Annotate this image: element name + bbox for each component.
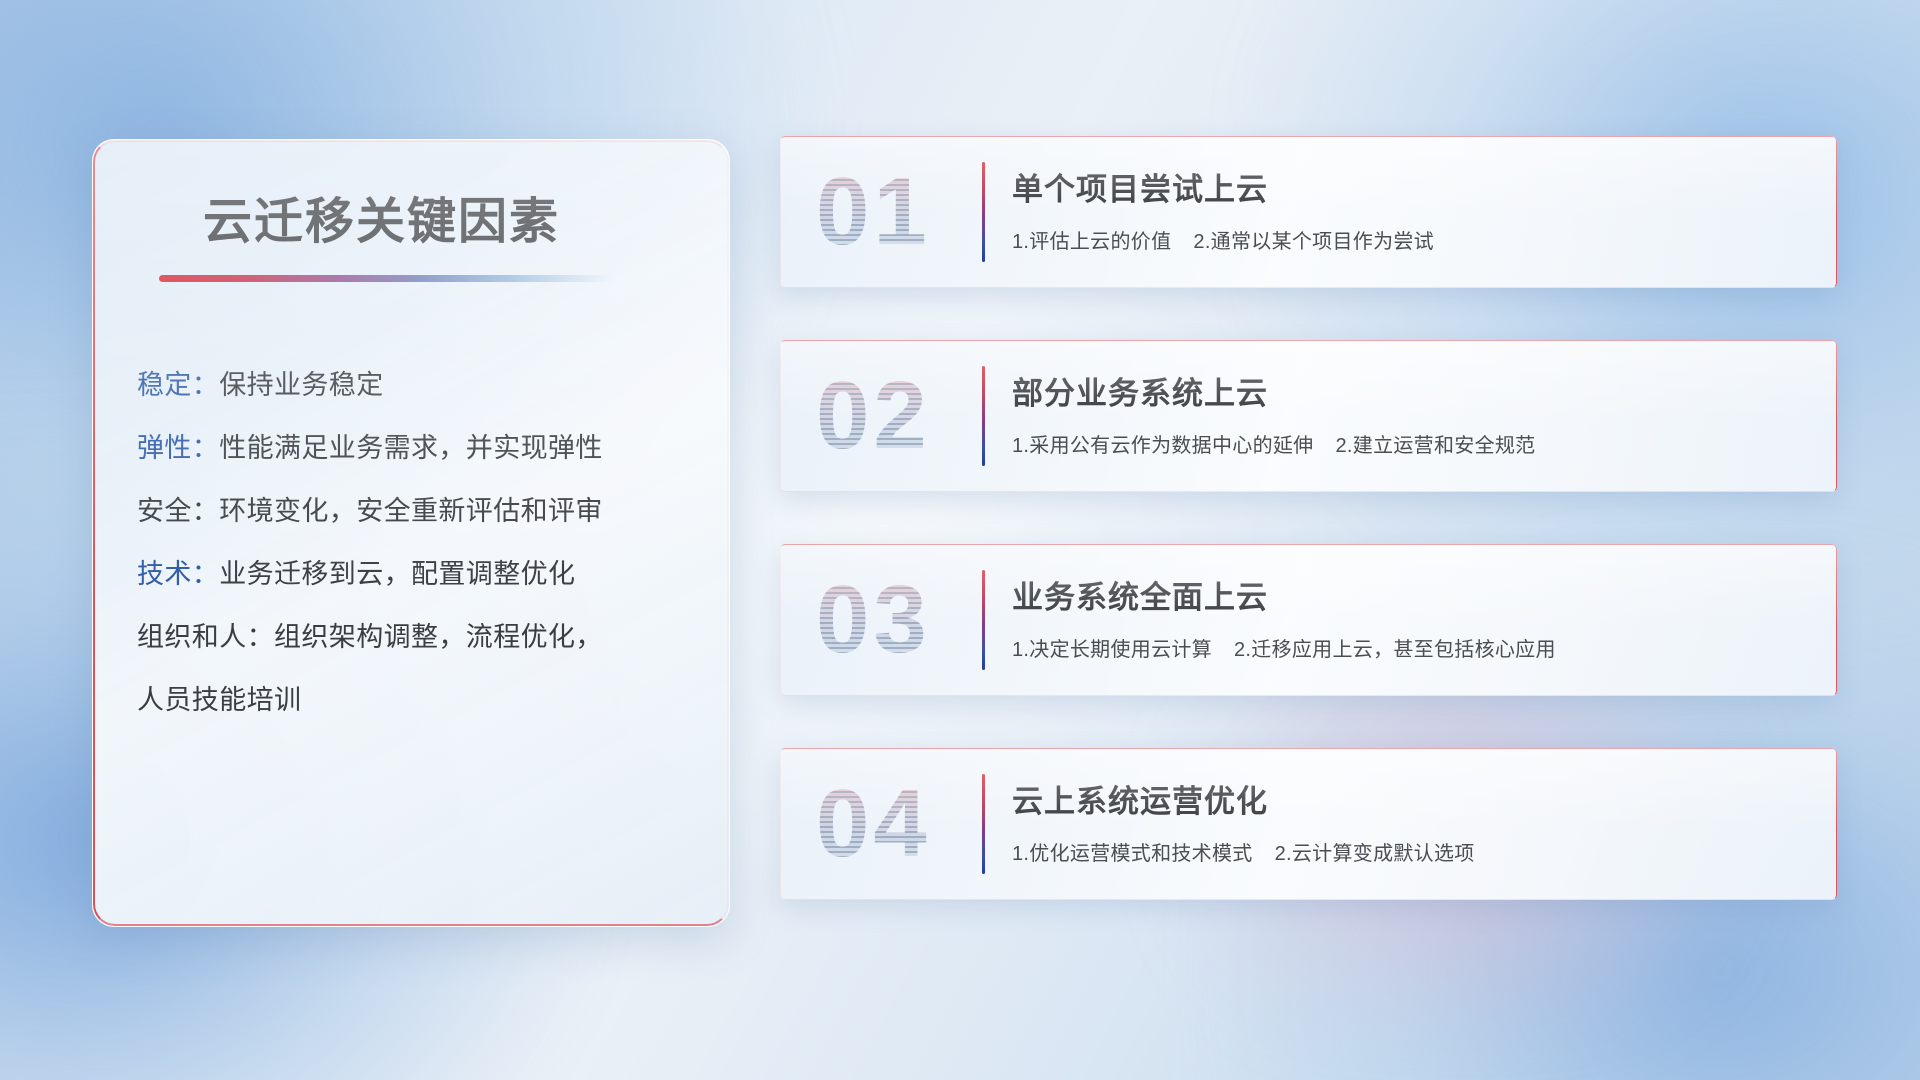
step-number-watermark: 04 [816,776,931,872]
list-item: 人员技能培训 [137,669,703,732]
factor-value: 组织架构调整，流程优化， [274,622,603,652]
step-card-04[interactable]: 04 云上系统运营优化 1.优化运营模式和技术模式2.云计算变成默认选项 [780,748,1837,900]
factor-value: 人员技能培训 [137,685,301,715]
step-description-part-2: 2.迁移应用上云，甚至包括核心应用 [1234,639,1556,661]
list-item: 安全：环境变化，安全重新评估和评审 [137,480,703,543]
step-title: 单个项目尝试上云 [1012,164,1813,209]
step-text-block: 云上系统运营优化 1.优化运营模式和技术模式2.云计算变成默认选项 [1012,776,1813,866]
step-divider-bar [982,366,985,466]
factor-value: 业务迁移到云，配置调整优化 [219,559,575,589]
step-description-part-1: 1.优化运营模式和技术模式 [1012,843,1253,865]
step-description: 1.决定长期使用云计算2.迁移应用上云，甚至包括核心应用 [1012,633,1813,662]
list-item: 弹性：性能满足业务需求，并实现弹性 [137,417,703,480]
step-title: 部分业务系统上云 [1012,368,1813,413]
step-description-part-2: 2.建立运营和安全规范 [1335,435,1535,457]
step-divider-bar [982,774,985,874]
step-description-part-1: 1.决定长期使用云计算 [1012,639,1212,661]
step-description-part-1: 1.评估上云的价值 [1012,231,1171,253]
step-description-part-2: 2.通常以某个项目作为尝试 [1193,231,1434,253]
step-card-02[interactable]: 02 部分业务系统上云 1.采用公有云作为数据中心的延伸2.建立运营和安全规范 [780,340,1837,492]
factor-value: 保持业务稳定 [219,370,383,400]
list-item: 稳定：保持业务稳定 [137,354,703,417]
page-title: 云迁移关键因素 [203,182,560,253]
step-text-block: 业务系统全面上云 1.决定长期使用云计算2.迁移应用上云，甚至包括核心应用 [1012,572,1813,662]
factor-value: 性能满足业务需求，并实现弹性 [219,433,603,463]
step-divider-bar [982,162,985,262]
step-number-watermark: 03 [816,572,931,668]
factor-label: 稳定： [137,370,219,400]
step-title: 业务系统全面上云 [1012,572,1813,617]
list-item: 技术：业务迁移到云，配置调整优化 [137,543,703,606]
title-underline-rule [159,275,613,282]
key-factors-list: 稳定：保持业务稳定 弹性：性能满足业务需求，并实现弹性 安全：环境变化，安全重新… [137,354,703,732]
key-factors-panel: 云迁移关键因素 稳定：保持业务稳定 弹性：性能满足业务需求，并实现弹性 安全：环… [92,139,730,927]
step-text-block: 单个项目尝试上云 1.评估上云的价值2.通常以某个项目作为尝试 [1012,164,1813,254]
step-card-01[interactable]: 01 单个项目尝试上云 1.评估上云的价值2.通常以某个项目作为尝试 [780,136,1837,288]
step-title: 云上系统运营优化 [1012,776,1813,821]
step-description: 1.评估上云的价值2.通常以某个项目作为尝试 [1012,225,1813,254]
migration-steps-list: 01 单个项目尝试上云 1.评估上云的价值2.通常以某个项目作为尝试 02 部分… [780,136,1837,952]
step-card-03[interactable]: 03 业务系统全面上云 1.决定长期使用云计算2.迁移应用上云，甚至包括核心应用 [780,544,1837,696]
factor-label: 技术： [137,559,219,589]
factor-label: 组织和人： [137,622,274,652]
list-item: 组织和人：组织架构调整，流程优化， [137,606,703,669]
factor-label: 安全： [137,496,219,526]
step-description-part-1: 1.采用公有云作为数据中心的延伸 [1012,435,1313,457]
step-description-part-2: 2.云计算变成默认选项 [1275,843,1475,865]
step-text-block: 部分业务系统上云 1.采用公有云作为数据中心的延伸2.建立运营和安全规范 [1012,368,1813,458]
step-description: 1.采用公有云作为数据中心的延伸2.建立运营和安全规范 [1012,429,1813,458]
slide-canvas: 云迁移关键因素 稳定：保持业务稳定 弹性：性能满足业务需求，并实现弹性 安全：环… [0,0,1920,1080]
step-number-watermark: 01 [816,164,931,260]
factor-label: 弹性： [137,433,219,463]
step-description: 1.优化运营模式和技术模式2.云计算变成默认选项 [1012,837,1813,866]
factor-value: 环境变化，安全重新评估和评审 [219,496,603,526]
step-divider-bar [982,570,985,670]
step-number-watermark: 02 [816,368,931,464]
